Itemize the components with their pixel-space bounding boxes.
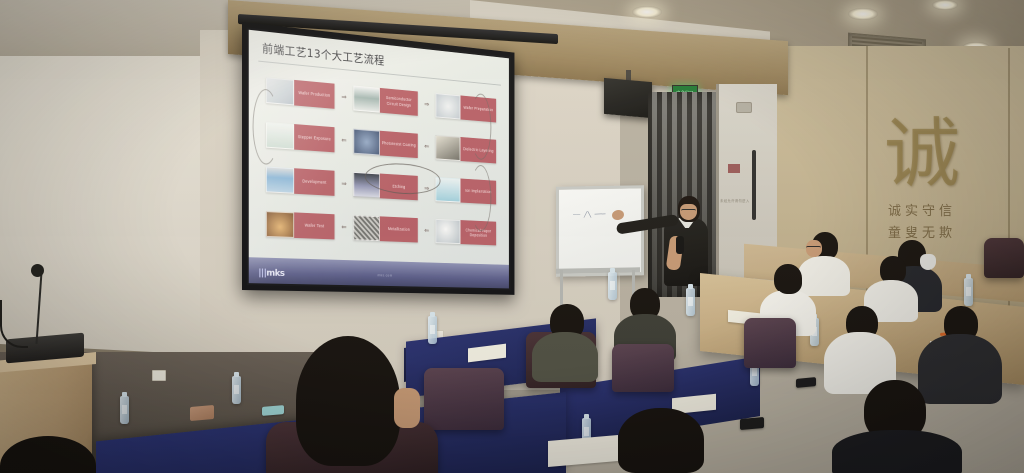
foreground-attendee-head — [618, 408, 704, 473]
water-bottle — [120, 396, 129, 424]
chair — [984, 238, 1024, 278]
ceiling-speaker — [604, 78, 652, 118]
flow-loop-arrow-right — [470, 93, 491, 161]
chair — [424, 368, 504, 430]
wall-panel-seam — [1008, 48, 1010, 348]
attendee-head — [776, 268, 802, 294]
process-step: Wafer Test — [266, 211, 335, 239]
step-label: Wafer Production — [294, 79, 334, 108]
smartphone-on-table — [740, 417, 764, 430]
step-thumbnail — [266, 211, 294, 238]
process-arrow: ⇐ — [423, 142, 431, 150]
door-lock-plate — [736, 102, 752, 113]
process-step: Semiconductor Circuit Design — [353, 85, 417, 115]
process-arrow: ⇒ — [340, 92, 348, 100]
step-label: Photoresist Coating — [380, 130, 418, 157]
notepad — [190, 405, 214, 421]
attendee-glasses — [806, 246, 821, 250]
step-thumbnail — [353, 85, 379, 112]
calligraphy-line-2: 童叟无欺 — [888, 222, 956, 241]
attendee-torso — [532, 332, 598, 382]
wall-outlet — [152, 370, 166, 381]
chair — [744, 318, 796, 368]
smartphone-on-table — [796, 377, 816, 388]
step-thumbnail — [266, 166, 294, 193]
process-arrow: ⇒ — [340, 180, 348, 188]
presenter-glasses — [681, 209, 696, 213]
process-arrow: ⇐ — [340, 223, 348, 231]
water-bottle — [232, 376, 241, 404]
paper-sheet — [548, 435, 618, 467]
whiteboard-writing: —— ╱╲ ─── — [573, 211, 607, 228]
attendee-torso — [918, 334, 1002, 404]
process-arrow: ⇐ — [423, 227, 431, 235]
screen-surface: 前端工艺13个大工艺流程 Wafer Production ⇒ Semicond… — [249, 30, 509, 289]
process-step: Photoresist Coating — [353, 128, 417, 157]
process-arrow: ⇐ — [340, 136, 348, 144]
mks-logo: |||mks — [258, 268, 284, 279]
step-thumbnail — [436, 93, 461, 119]
smartphone-on-table — [262, 405, 284, 416]
process-step: Metallization — [353, 215, 417, 242]
water-bottle — [686, 288, 695, 316]
door-notice-sticker — [728, 164, 740, 173]
handheld-microphone — [676, 236, 684, 254]
water-bottle — [428, 316, 437, 344]
step-label: Metallization — [380, 216, 418, 242]
window-blind-slat — [652, 92, 657, 297]
microphone-head — [31, 264, 44, 277]
step-label: Stepper Exposure — [294, 124, 334, 152]
process-arrow: ⇒ — [423, 100, 431, 108]
room-photo-scene: 诚 诚实守信 童叟无欺 前端工艺13个大工艺流程 Wafer Productio… — [0, 0, 1024, 473]
ceiling-downlight — [848, 8, 878, 20]
step-thumbnail — [353, 215, 379, 241]
attendee-torso — [798, 256, 850, 296]
door-notice-text: 未经允许请勿进入 — [720, 198, 772, 203]
attendee-torso — [832, 430, 962, 473]
calligraphy-line-1: 诚实守信 — [888, 200, 956, 219]
ceiling-downlight — [632, 6, 662, 18]
water-bottle — [608, 272, 617, 300]
whiteboard-leg — [560, 270, 563, 306]
face-mask — [920, 254, 936, 270]
slide-footer-note: mks.com — [378, 273, 393, 277]
step-thumbnail — [353, 128, 379, 155]
projection-screen: 前端工艺13个大工艺流程 Wafer Production ⇒ Semicond… — [242, 22, 514, 295]
slide-footer-bar: |||mks mks.com — [249, 257, 509, 288]
foreground-attendee-hair — [296, 336, 400, 466]
step-label: Semiconductor Circuit Design — [380, 87, 418, 115]
chair — [612, 344, 674, 392]
step-label: Wafer Test — [294, 212, 334, 239]
door-handle[interactable] — [752, 150, 756, 220]
process-step: Development — [266, 166, 335, 195]
flow-loop-arrow-right-lower — [470, 164, 491, 231]
ceiling-downlight — [932, 0, 958, 10]
slide-process-diagram: Wafer Production ⇒ Semiconductor Circuit… — [266, 67, 499, 261]
water-bottle — [964, 278, 973, 306]
calligraphy-main-character: 诚 — [884, 122, 960, 187]
foreground-attendee-hand — [394, 388, 420, 428]
step-label: Development — [294, 168, 334, 196]
step-thumbnail — [436, 135, 461, 161]
slide-title: 前端工艺13个大工艺流程 — [262, 40, 384, 68]
step-thumbnail — [436, 219, 461, 244]
